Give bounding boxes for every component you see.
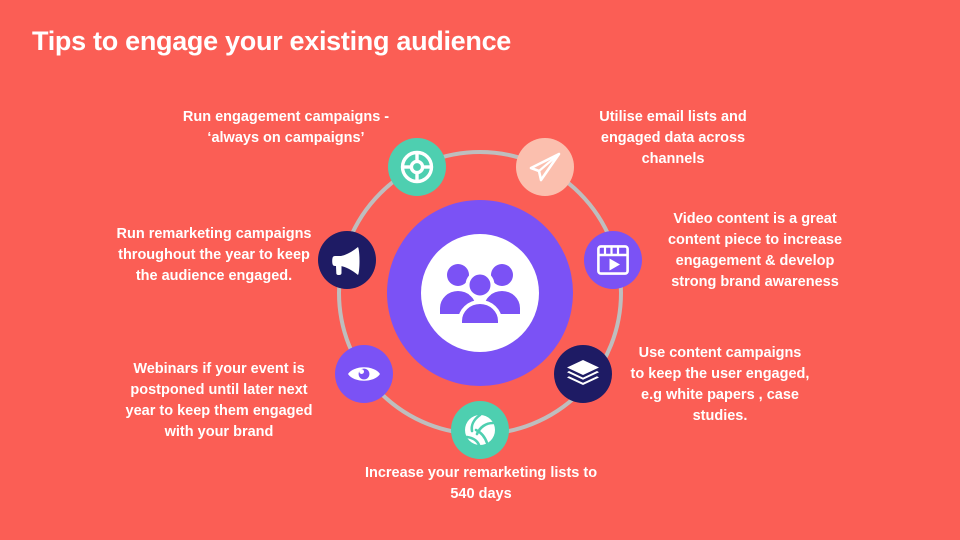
label-email-lists: Utilise email lists and engaged data acr… xyxy=(572,107,774,170)
node-content-campaigns[interactable] xyxy=(554,345,612,403)
label-remarketing-lists: Increase your remarketing lists to 540 d… xyxy=(362,463,600,505)
lifebuoy-icon xyxy=(400,150,434,184)
node-video-content[interactable] xyxy=(584,231,642,289)
globe-icon xyxy=(463,413,497,447)
megaphone-icon xyxy=(330,244,364,276)
label-video-content: Video content is a great content piece t… xyxy=(652,209,858,293)
node-email-lists[interactable] xyxy=(516,138,574,196)
node-remarketing-lists[interactable] xyxy=(451,401,509,459)
eye-icon xyxy=(346,362,382,386)
node-remarketing-campaigns[interactable] xyxy=(318,231,376,289)
hub-inner-circle xyxy=(421,234,539,352)
label-remarketing-campaigns: Run remarketing campaigns throughout the… xyxy=(112,224,316,287)
paper-plane-icon xyxy=(528,150,562,184)
slide-canvas: Tips to engage your existing audience xyxy=(0,0,960,540)
circular-diagram: Run engagement campaigns - ‘always on ca… xyxy=(0,0,960,540)
people-group-icon xyxy=(439,261,521,325)
label-engagement-campaigns: Run engagement campaigns - ‘always on ca… xyxy=(170,107,402,149)
hub-circle xyxy=(387,200,573,386)
label-webinars: Webinars if your event is postponed unti… xyxy=(124,359,314,443)
layers-stack-icon xyxy=(566,359,600,389)
label-content-campaigns: Use content campaigns to keep the user e… xyxy=(630,343,810,427)
node-webinars[interactable] xyxy=(335,345,393,403)
video-clapper-icon xyxy=(596,244,630,276)
